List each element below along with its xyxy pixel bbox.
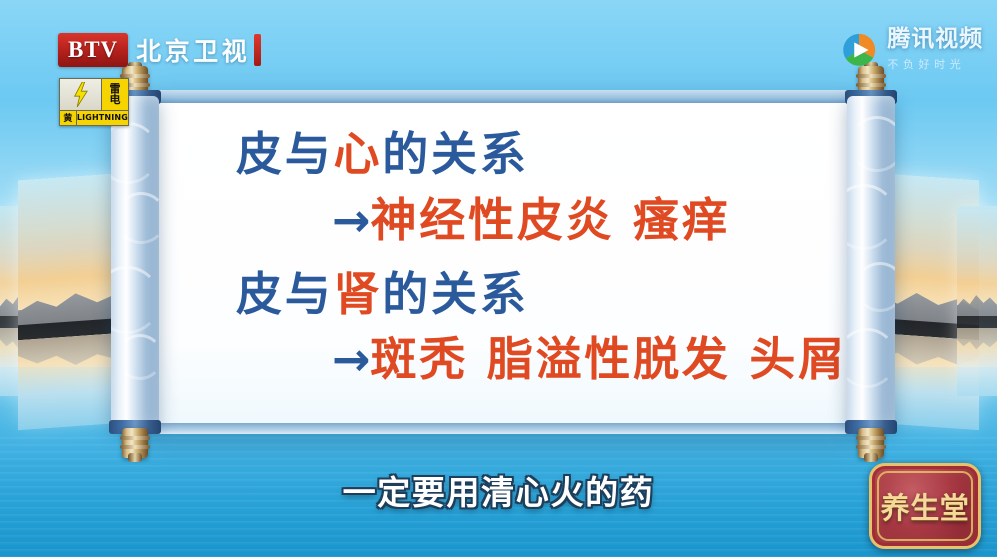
scroll-line-1-seg-2: 心 — [334, 127, 383, 181]
platform-name: 腾讯视频 — [887, 28, 983, 51]
btv-badge: BTV — [58, 33, 128, 67]
channel-name-cn: 北京卫视 — [136, 32, 250, 68]
lightning-bolt-icon — [60, 79, 102, 110]
scroll-text-block: 皮与心的关系 →神经性皮炎 瘙痒 皮与肾的关系 →斑秃 脂溢性脱发 头屑 — [148, 103, 858, 423]
scroll-line-3-seg-1: 皮与 — [236, 267, 334, 321]
alert-level-en: LIGHTNING — [77, 111, 128, 125]
show-logo: 养生堂 — [869, 463, 981, 549]
play-triangle-icon — [840, 31, 878, 69]
platform-watermark: 腾讯视频 不负好时光 — [840, 28, 983, 72]
alert-level-cn: 黄 — [60, 111, 77, 125]
scroll-line-1-seg-3: 的关系 — [382, 127, 528, 181]
scroll-line-2-seg-1: 神经性皮炎 瘙痒 — [371, 193, 731, 247]
video-frame: 皮与心的关系 →神经性皮炎 瘙痒 皮与肾的关系 →斑秃 脂溢性脱发 头屑 — [0, 0, 997, 557]
channel-accent-bar — [254, 34, 261, 66]
channel-logo: BTV 北京卫视 — [58, 33, 261, 67]
scroll-line-2: →神经性皮炎 瘙痒 — [332, 197, 824, 245]
arrow-icon-2: → — [332, 332, 371, 386]
alert-type-char-2: 电 — [110, 94, 121, 106]
scroll-line-3: 皮与肾的关系 — [236, 271, 824, 319]
weather-alert-badge: 雷 电 黄 LIGHTNING — [59, 78, 129, 126]
scroll-line-1: 皮与心的关系 — [236, 131, 824, 179]
scroll-line-3-seg-3: 的关系 — [382, 267, 528, 321]
arrow-icon-1: → — [332, 193, 371, 247]
platform-tagline: 不负好时光 — [887, 56, 965, 72]
show-name: 养生堂 — [869, 463, 981, 549]
scroll-line-4-seg-1: 斑秃 脂溢性脱发 头屑 — [371, 332, 847, 386]
btv-abbr: BTV — [68, 37, 118, 63]
scroll-rod-right — [844, 62, 898, 462]
scroll-line-1-seg-1: 皮与 — [236, 127, 334, 181]
subtitle-caption: 一定要用清心火的药 — [0, 466, 997, 514]
scroll-line-3-seg-2: 肾 — [334, 267, 383, 321]
scroll-paper: 皮与心的关系 →神经性皮炎 瘙痒 皮与肾的关系 →斑秃 脂溢性脱发 头屑 — [148, 90, 858, 434]
scroll-line-4: →斑秃 脂溢性脱发 头屑 — [332, 336, 824, 384]
alert-type-cn: 雷 电 — [102, 79, 128, 110]
scroll-graphic: 皮与心的关系 →神经性皮炎 瘙痒 皮与肾的关系 →斑秃 脂溢性脱发 头屑 — [108, 62, 898, 462]
